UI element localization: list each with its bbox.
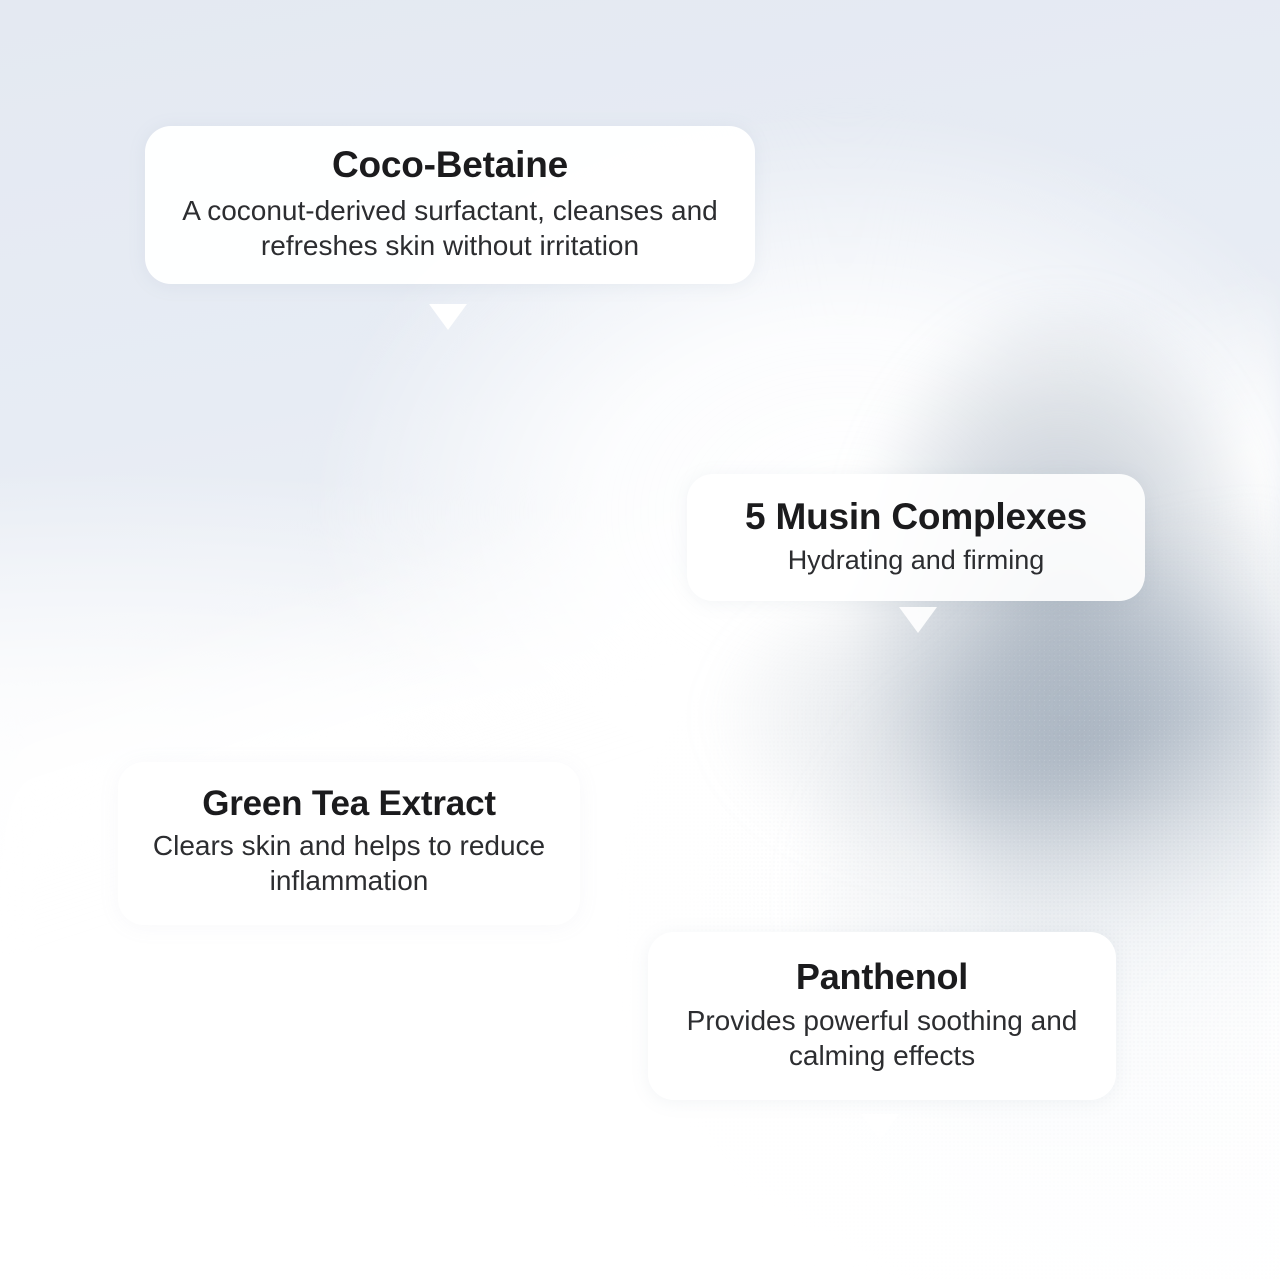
callout-title: 5 Musin Complexes (709, 496, 1123, 539)
callout-title: Coco-Betaine (171, 144, 729, 187)
callout-card-musin: 5 Musin Complexes Hydrating and firming (687, 474, 1145, 601)
callout-description: Hydrating and firming (709, 543, 1123, 577)
callout-tail-coco-betaine (429, 304, 467, 330)
callout-card-panthenol: Panthenol Provides powerful soothing and… (648, 932, 1116, 1100)
callout-description: Provides powerful soothing and calming e… (672, 1003, 1092, 1074)
callout-description: Clears skin and helps to reduce inflamma… (142, 828, 556, 899)
callout-title: Green Tea Extract (142, 784, 556, 825)
ingredient-callout-graphic: Coco-Betaine A coconut-derived surfactan… (0, 0, 1280, 1280)
callout-card-coco-betaine: Coco-Betaine A coconut-derived surfactan… (145, 126, 755, 284)
callout-description: A coconut-derived surfactant, cleanses a… (171, 193, 729, 264)
callout-tail-panthenol (861, 1114, 899, 1140)
callout-card-green-tea: Green Tea Extract Clears skin and helps … (118, 762, 580, 925)
callout-title: Panthenol (672, 956, 1092, 998)
callout-tail-musin (899, 607, 937, 633)
